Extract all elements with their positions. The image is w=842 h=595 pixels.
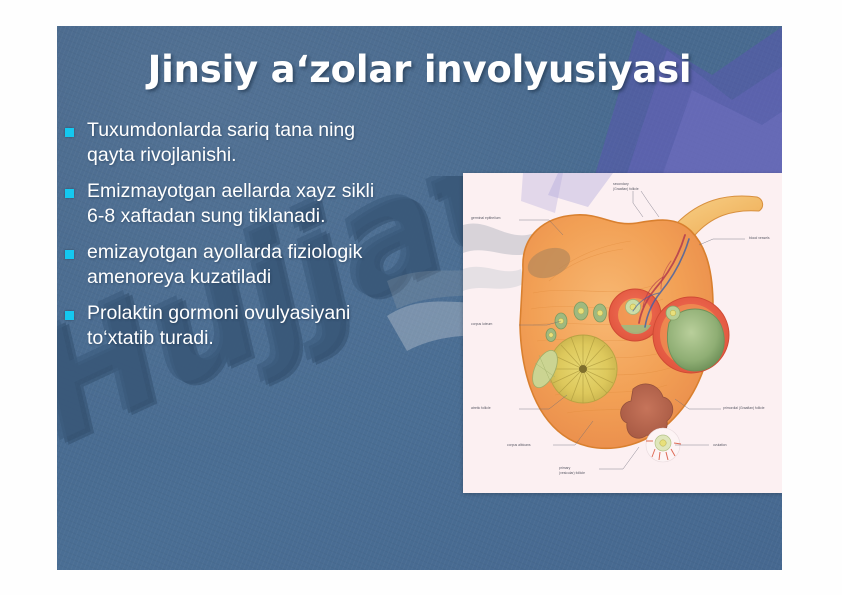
list-item: emizayotgan ayollarda fiziologik amenore… — [65, 240, 465, 290]
diagram-label: atretic follicle — [471, 406, 491, 410]
square-bullet-icon — [65, 311, 74, 320]
bullet-text: Prolaktin gormoni ovulyasiyani to‘xtatib… — [87, 301, 350, 351]
square-bullet-icon — [65, 250, 74, 259]
bullet-list: Tuxumdonlarda sariq tana ning qayta rivo… — [65, 118, 465, 362]
ovary-diagram-panel: germinal epithelium secondary (Graafian)… — [463, 173, 782, 493]
presentation-slide: Hujjat Hujjat Hujjat Jinsiy a‘zolar invo… — [57, 26, 782, 570]
bullet-text: Tuxumdonlarda sariq tana ning qayta rivo… — [87, 118, 355, 168]
square-bullet-icon — [65, 189, 74, 198]
diagram-label: primordial (Graafian) follicle — [723, 406, 765, 410]
diagram-label: primary — [559, 466, 571, 470]
diagram-label: corpus luteum — [471, 322, 492, 326]
list-item: Emizmayotgan aellarda xayz sikli 6-8 xaf… — [65, 179, 465, 229]
diagram-label: ovulation — [713, 443, 727, 447]
page-title: Jinsiy a‘zolar involyusiyasi — [57, 48, 782, 91]
list-item: Tuxumdonlarda sariq tana ning qayta rivo… — [65, 118, 465, 168]
diagram-label: corpus albicans — [507, 443, 531, 447]
diagram-label: germinal epithelium — [471, 216, 501, 220]
ovary-cross-section-image: germinal epithelium secondary (Graafian)… — [463, 173, 782, 493]
bullet-text: Emizmayotgan aellarda xayz sikli 6-8 xaf… — [87, 179, 374, 229]
slide-page: Hujjat Hujjat Hujjat Jinsiy a‘zolar invo… — [0, 0, 842, 595]
list-item: Prolaktin gormoni ovulyasiyani to‘xtatib… — [65, 301, 465, 351]
diagram-label: blood vessels — [749, 236, 770, 240]
square-bullet-icon — [65, 128, 74, 137]
bullet-text: emizayotgan ayollarda fiziologik amenore… — [87, 240, 362, 290]
diagram-label: (Graafian) follicle — [613, 187, 639, 191]
diagram-label: secondary — [613, 182, 629, 186]
diagram-label: (vesicular) follicle — [559, 471, 585, 475]
